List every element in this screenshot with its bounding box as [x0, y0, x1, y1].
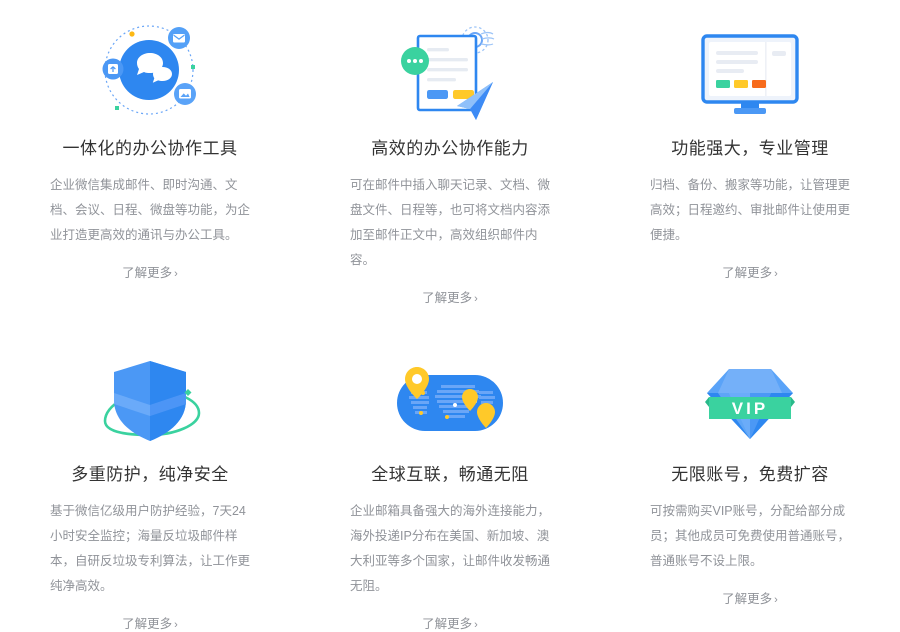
feature-card-unlimited-accounts: VIP 无限账号，免费扩容 可按需购买VIP账号，分配给部分成员；其他成员可免费… [650, 352, 850, 632]
chevron-right-icon: › [474, 293, 478, 305]
chevron-right-icon: › [174, 268, 178, 280]
feature-card-collaboration: 高效的办公协作能力 可在邮件中插入聊天记录、文档、微盘文件、日程等，也可将文档内… [350, 16, 550, 306]
vip-diamond-icon: VIP [680, 352, 820, 452]
learn-more-label: 了解更多 [122, 266, 172, 280]
row-spacer [350, 312, 550, 346]
learn-more-link[interactable]: 了解更多› [722, 588, 778, 607]
learn-more-label: 了解更多 [722, 592, 772, 606]
row-spacer [50, 312, 250, 346]
document-send-icon [380, 16, 520, 126]
learn-more-label: 了解更多 [122, 617, 172, 631]
vip-badge-text: VIP [732, 399, 768, 418]
learn-more-label: 了解更多 [422, 291, 472, 305]
card-description: 企业微信集成邮件、即时沟通、文档、会议、日程、微盘等功能，为企业打造更高效的通讯… [50, 173, 250, 248]
card-title: 功能强大，专业管理 [671, 134, 829, 159]
learn-more-link[interactable]: 了解更多› [422, 613, 478, 632]
card-title: 无限账号，免费扩容 [671, 460, 829, 485]
feature-card-integrated-office: 一体化的办公协作工具 企业微信集成邮件、即时沟通、文档、会议、日程、微盘等功能，… [50, 16, 250, 306]
card-description: 可在邮件中插入聊天记录、文档、微盘文件、日程等，也可将文档内容添加至邮件正文中，… [350, 173, 550, 273]
card-title: 全球互联，畅通无阻 [371, 460, 529, 485]
card-description: 企业邮箱具备强大的海外连接能力，海外投递IP分布在美国、新加坡、澳大利亚等多个国… [350, 499, 550, 599]
world-map-pins-icon [380, 352, 520, 452]
learn-more-link[interactable]: 了解更多› [422, 287, 478, 306]
learn-more-label: 了解更多 [722, 266, 772, 280]
card-title: 多重防护，纯净安全 [71, 460, 229, 485]
card-title: 高效的办公协作能力 [371, 134, 529, 159]
row-spacer [650, 312, 850, 346]
shield-security-icon [80, 352, 220, 452]
chevron-right-icon: › [774, 594, 778, 606]
card-description: 基于微信亿级用户防护经验，7天24小时安全监控；海量反垃圾邮件样本，自研反垃圾专… [50, 499, 250, 599]
learn-more-link[interactable]: 了解更多› [722, 262, 778, 281]
chevron-right-icon: › [474, 619, 478, 631]
learn-more-link[interactable]: 了解更多› [122, 262, 178, 281]
card-description: 归档、备份、搬家等功能，让管理更高效；日程邀约、审批邮件让使用更便捷。 [650, 173, 850, 248]
chevron-right-icon: › [774, 268, 778, 280]
chat-orbit-icon [80, 16, 220, 126]
feature-card-global-network: 全球互联，畅通无阻 企业邮箱具备强大的海外连接能力，海外投递IP分布在美国、新加… [350, 352, 550, 632]
learn-more-link[interactable]: 了解更多› [122, 613, 178, 632]
feature-card-security: 多重防护，纯净安全 基于微信亿级用户防护经验，7天24小时安全监控；海量反垃圾邮… [50, 352, 250, 632]
feature-card-management: 功能强大，专业管理 归档、备份、搬家等功能，让管理更高效；日程邀约、审批邮件让使… [650, 16, 850, 306]
learn-more-label: 了解更多 [422, 617, 472, 631]
features-grid: 一体化的办公协作工具 企业微信集成邮件、即时沟通、文档、会议、日程、微盘等功能，… [0, 0, 900, 632]
card-description: 可按需购买VIP账号，分配给部分成员；其他成员可免费使用普通账号，普通账号不设上… [650, 499, 850, 574]
chevron-right-icon: › [174, 619, 178, 631]
monitor-admin-icon [680, 16, 820, 126]
card-title: 一体化的办公协作工具 [63, 134, 238, 159]
